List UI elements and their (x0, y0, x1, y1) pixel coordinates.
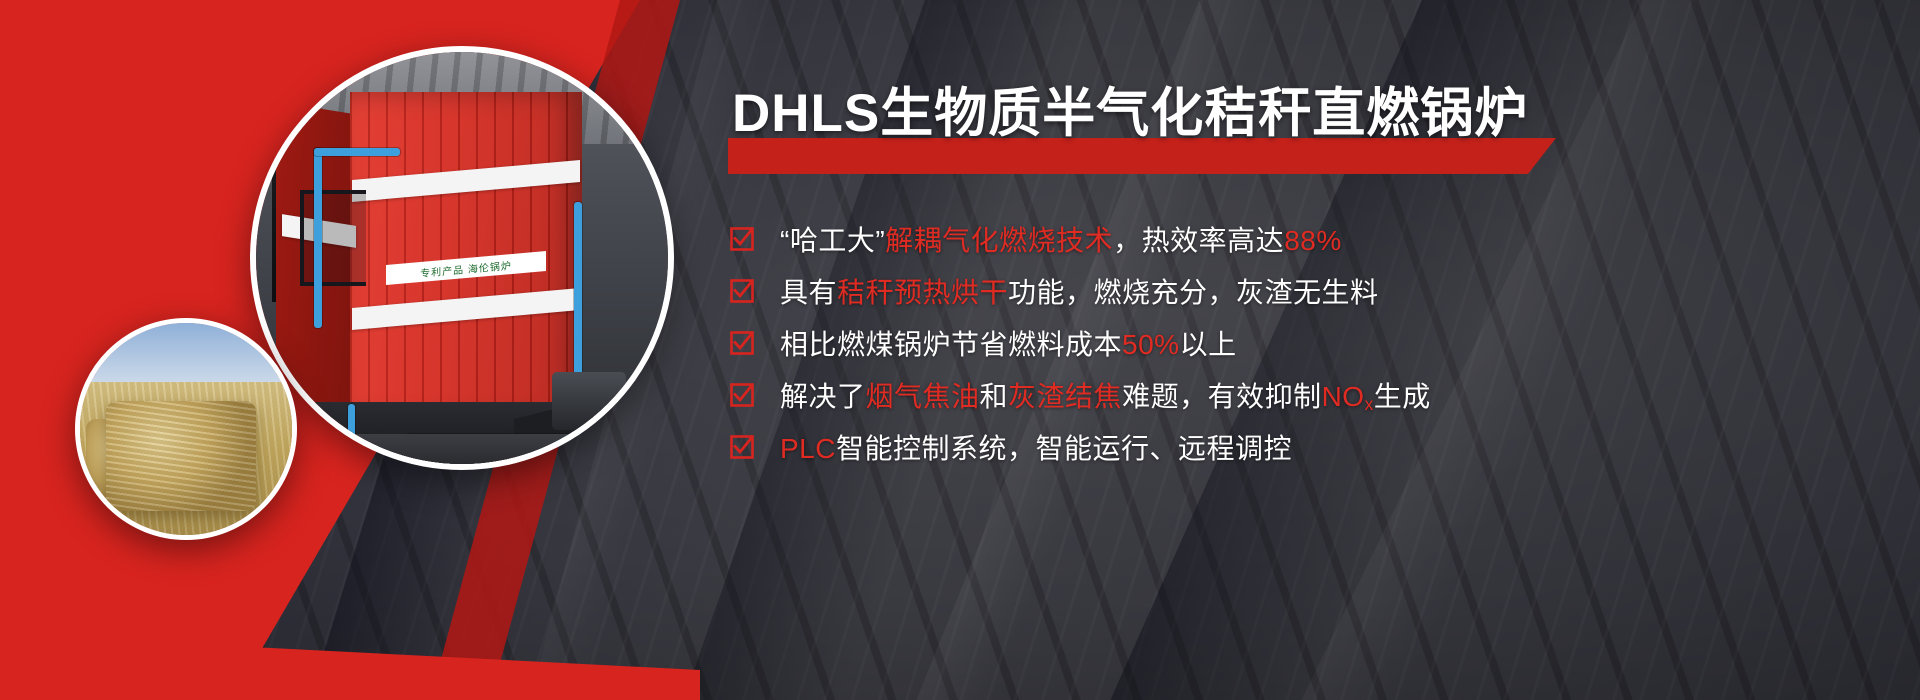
feature-list: “哈工大”解耦气化燃烧技术，热效率高达88% 具有秸秆预热烘干功能，燃烧充分，灰… (718, 214, 1920, 472)
boiler-motor (552, 372, 626, 430)
text-segment: 以上 (1180, 329, 1237, 360)
list-item: 具有秸秆预热烘干功能，燃烧充分，灰渣无生料 (722, 266, 1920, 316)
checkbox-checked-icon (730, 331, 754, 355)
text-segment: 解决了 (780, 381, 866, 412)
checkbox-checked-icon (730, 435, 754, 459)
text-segment-highlight: NO (1322, 381, 1365, 412)
text-segment: 功能，燃烧充分，灰渣无生料 (1008, 277, 1379, 308)
straw-bale-large (106, 401, 256, 511)
list-item: 相比燃煤锅炉节省燃料成本50%以上 (722, 318, 1920, 368)
text-segment-highlight: 50% (1122, 329, 1180, 360)
list-item: PLC智能控制系统，智能运行、远程调控 (722, 422, 1920, 472)
text-segment: 生成 (1374, 381, 1431, 412)
boiler-illustration: 专利产品 海伦锅炉 (256, 52, 668, 464)
boiler-platform-railing (300, 190, 366, 286)
straw-illustration (80, 323, 292, 535)
text-segment: “哈工大” (780, 225, 885, 256)
boiler-pipe (574, 202, 582, 392)
boiler-pipe (314, 148, 322, 328)
text-segment-highlight: 88% (1284, 225, 1342, 256)
text-segment-highlight: PLC (780, 433, 836, 464)
biomass-boiler-photo: 专利产品 海伦锅炉 (250, 46, 674, 470)
list-item: “哈工大”解耦气化燃烧技术，热效率高达88% (722, 214, 1920, 264)
banner-content: DHLS生物质半气化秸秆直燃锅炉 “哈工大”解耦气化燃烧技术，热效率高达88% … (718, 0, 1920, 700)
product-banner: 专利产品 海伦锅炉 DHLS生物质半气化秸秆直燃锅炉 (0, 0, 1920, 700)
text-segment-highlight: 烟气焦油 (866, 381, 980, 412)
text-segment: 相比燃煤锅炉节省燃料成本 (780, 329, 1122, 360)
text-segment-highlight: 解耦气化燃烧技术 (885, 225, 1113, 256)
list-item-text: PLC智能控制系统，智能运行、远程调控 (780, 427, 1292, 467)
text-segment-subscript: x (1365, 394, 1374, 414)
list-item-text: 相比燃煤锅炉节省燃料成本50%以上 (780, 323, 1237, 363)
checkbox-checked-icon (730, 279, 754, 303)
text-segment: 难题，有效抑制 (1122, 381, 1322, 412)
list-item: 解决了烟气焦油和灰渣结焦难题，有效抑制NOx生成 (722, 370, 1920, 420)
straw-bale-field-photo (75, 318, 297, 540)
factory-floor (256, 434, 668, 464)
boiler-pipe (314, 148, 400, 156)
sky (80, 323, 292, 387)
text-segment: 智能控制系统，智能运行、远程调控 (836, 433, 1292, 464)
list-item-text: “哈工大”解耦气化燃烧技术，热效率高达88% (780, 219, 1342, 259)
text-segment: 和 (980, 381, 1009, 412)
title-block: DHLS生物质半气化秸秆直燃锅炉 (718, 86, 1920, 178)
text-segment: ，热效率高达 (1113, 225, 1284, 256)
text-segment-highlight: 灰渣结焦 (1008, 381, 1122, 412)
text-segment: 具有 (780, 277, 837, 308)
page-title: DHLS生物质半气化秸秆直燃锅炉 (718, 86, 1920, 142)
list-item-text: 具有秸秆预热烘干功能，燃烧充分，灰渣无生料 (780, 271, 1379, 311)
text-segment-highlight: 秸秆预热烘干 (837, 277, 1008, 308)
checkbox-checked-icon (730, 383, 754, 407)
list-item-text: 解决了烟气焦油和灰渣结焦难题，有效抑制NOx生成 (780, 375, 1431, 415)
checkbox-checked-icon (730, 227, 754, 251)
title-underline-bar (728, 138, 1556, 174)
